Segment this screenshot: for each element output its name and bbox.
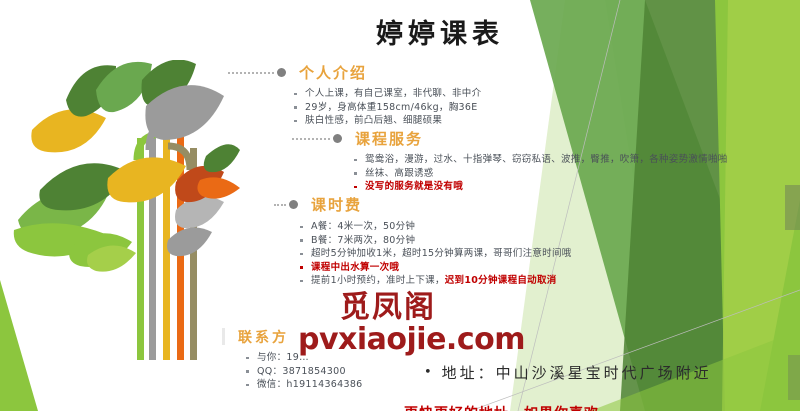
bullet-dot-icon (289, 200, 298, 209)
list-item: 个人上课，有自己课室，非代聊、非中介 (292, 87, 481, 101)
list-item: 肤白性感，前凸后翘、细腿硕果 (292, 114, 481, 128)
section-intro: 个人介绍 个人上课，有自己课室，非代聊、非中介 29岁，身高体重158cm/46… (228, 62, 481, 128)
section-service-bullets: 鸳鸯浴，漫游，过水、十指弹琴、窃窃私语、波推，臀推，吹箫，各种姿势激情啪啪 丝袜… (352, 153, 728, 194)
bottom-clipped-text: 更快更好的地址，如果你喜欢 (404, 403, 599, 411)
list-item: 丝袜、高跟诱惑 (352, 167, 728, 181)
list-item: A餐：4米一次，50分钟 (298, 220, 572, 234)
list-item: 29岁，身高体重158cm/46kg，胸36E (292, 101, 481, 115)
section-fee-bullets: A餐：4米一次，50分钟 B餐：7米两次，80分钟 超时5分钟加收1米，超时15… (298, 220, 572, 288)
section-service-header: 课程服务 (292, 128, 728, 149)
list-item: 微信：h19114364386 (244, 378, 363, 392)
watermark-url: pvxiaojie.com (298, 322, 525, 357)
connector-line (274, 204, 286, 206)
section-intro-title: 个人介绍 (299, 62, 367, 83)
contact-accent-bar (222, 328, 225, 345)
section-intro-bullets: 个人上课，有自己课室，非代聊、非中介 29岁，身高体重158cm/46kg，胸3… (292, 87, 481, 128)
section-intro-header: 个人介绍 (228, 62, 481, 83)
list-item: 鸳鸯浴，漫游，过水、十指弹琴、窃窃私语、波推，臀推，吹箫，各种姿势激情啪啪 (352, 153, 728, 167)
section-fee: 课时费 A餐：4米一次，50分钟 B餐：7米两次，80分钟 超时5分钟加收1米，… (274, 194, 572, 288)
address-text: 地址：中山沙溪星宝时代广场附近 (424, 362, 712, 383)
contact-title: 联系方 (238, 327, 289, 347)
slide-title: 婷婷课表 (320, 12, 560, 51)
contact-list: 与你：19… QQ：3871854300 微信：h19114364386 (244, 351, 363, 392)
tree-illustration (0, 60, 240, 360)
watermark-chinese: 觅凤阁 (340, 282, 436, 326)
list-item: B餐：7米两次，80分钟 (298, 234, 572, 248)
fee-note-red: 迟到10分钟课程自动取消 (445, 275, 557, 286)
list-item: 超时5分钟加收1米，超时15分钟算两课，哥哥们注意时间哦 (298, 247, 572, 261)
list-item-highlight: 没写的服务就是没有哦 (352, 180, 728, 194)
bullet-dot-icon (277, 68, 286, 77)
section-service: 课程服务 鸳鸯浴，漫游，过水、十指弹琴、窃窃私语、波推，臀推，吹箫，各种姿势激情… (292, 128, 728, 194)
list-item: QQ：3871854300 (244, 365, 363, 379)
connector-line (292, 138, 330, 140)
list-item-highlight: 课程中出水算一次哦 (298, 261, 572, 275)
bullet-dot-icon (333, 134, 342, 143)
section-fee-header: 课时费 (274, 194, 572, 215)
connector-line (228, 72, 274, 74)
section-fee-title: 课时费 (311, 194, 362, 215)
slide-canvas: 婷婷课表 个人介绍 个人上课，有自己课室，非代聊、非中介 29岁，身高体重158… (0, 0, 800, 411)
section-service-title: 课程服务 (355, 128, 423, 149)
